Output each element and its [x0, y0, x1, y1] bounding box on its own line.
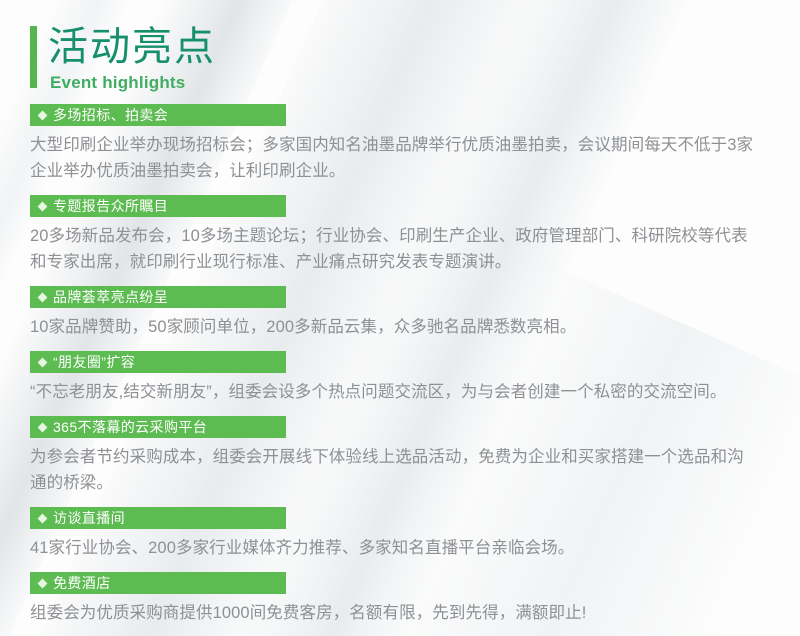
diamond-icon — [38, 201, 48, 211]
section-title: 专题报告众所瞩目 — [53, 195, 168, 217]
section-title: 365不落幕的云采购平台 — [53, 416, 207, 438]
title-block: 活动亮点 Event highlights — [48, 24, 800, 94]
section-body: 10家品牌赞助，50家顾问单位，200多新品云集，众多驰名品牌悉数亮相。 — [30, 314, 782, 340]
highlight-section: “朋友圈”扩容 “不忘老朋友,结交新朋友”，组委会设多个热点问题交流区，为与会者… — [30, 351, 782, 405]
section-title: “朋友圈”扩容 — [53, 351, 135, 373]
section-title: 品牌荟萃亮点纷呈 — [53, 286, 168, 308]
highlight-section: 品牌荟萃亮点纷呈 10家品牌赞助，50家顾问单位，200多新品云集，众多驰名品牌… — [30, 286, 782, 340]
diamond-icon — [38, 357, 48, 367]
diamond-icon — [38, 578, 48, 588]
event-highlights-page: 活动亮点 Event highlights 多场招标、拍卖会 大型印刷企业举办现… — [0, 0, 800, 636]
diamond-icon — [38, 513, 48, 523]
page-subtitle: Event highlights — [50, 72, 800, 94]
section-header-bar: 多场招标、拍卖会 — [30, 104, 286, 126]
diamond-icon — [38, 422, 48, 432]
page-title: 活动亮点 — [48, 24, 800, 70]
page-header: 活动亮点 Event highlights — [0, 0, 800, 84]
section-title: 访谈直播间 — [53, 507, 125, 529]
section-title: 多场招标、拍卖会 — [53, 104, 168, 126]
highlight-section: 访谈直播间 41家行业协会、200多家行业媒体齐力推荐、多家知名直播平台亲临会场… — [30, 507, 782, 561]
diamond-icon — [38, 110, 48, 120]
highlight-section: 免费酒店 组委会为优质采购商提供1000间免费客房，名额有限，先到先得，满额即止… — [30, 572, 782, 626]
section-header-bar: 365不落幕的云采购平台 — [30, 416, 286, 438]
section-body: 为参会者节约采购成本，组委会开展线下体验线上选品活动，免费为企业和买家搭建一个选… — [30, 444, 782, 496]
section-title: 免费酒店 — [53, 572, 111, 594]
section-body: “不忘老朋友,结交新朋友”，组委会设多个热点问题交流区，为与会者创建一个私密的交… — [30, 379, 782, 405]
section-body: 组委会为优质采购商提供1000间免费客房，名额有限，先到先得，满额即止! — [30, 600, 782, 626]
section-body: 大型印刷企业举办现场招标会；多家国内知名油墨品牌举行优质油墨拍卖，会议期间每天不… — [30, 132, 782, 184]
highlight-section: 专题报告众所瞩目 20多场新品发布会，10多场主题论坛；行业协会、印刷生产企业、… — [30, 195, 782, 275]
section-header-bar: 专题报告众所瞩目 — [30, 195, 286, 217]
section-header-bar: 访谈直播间 — [30, 507, 286, 529]
section-header-bar: 免费酒店 — [30, 572, 286, 594]
highlights-list: 多场招标、拍卖会 大型印刷企业举办现场招标会；多家国内知名油墨品牌举行优质油墨拍… — [0, 104, 800, 626]
diamond-icon — [38, 292, 48, 302]
title-accent-bar — [30, 26, 37, 88]
section-header-bar: “朋友圈”扩容 — [30, 351, 286, 373]
section-header-bar: 品牌荟萃亮点纷呈 — [30, 286, 286, 308]
highlight-section: 365不落幕的云采购平台 为参会者节约采购成本，组委会开展线下体验线上选品活动，… — [30, 416, 782, 496]
section-body: 20多场新品发布会，10多场主题论坛；行业协会、印刷生产企业、政府管理部门、科研… — [30, 223, 782, 275]
section-body: 41家行业协会、200多家行业媒体齐力推荐、多家知名直播平台亲临会场。 — [30, 535, 782, 561]
highlight-section: 多场招标、拍卖会 大型印刷企业举办现场招标会；多家国内知名油墨品牌举行优质油墨拍… — [30, 104, 782, 184]
